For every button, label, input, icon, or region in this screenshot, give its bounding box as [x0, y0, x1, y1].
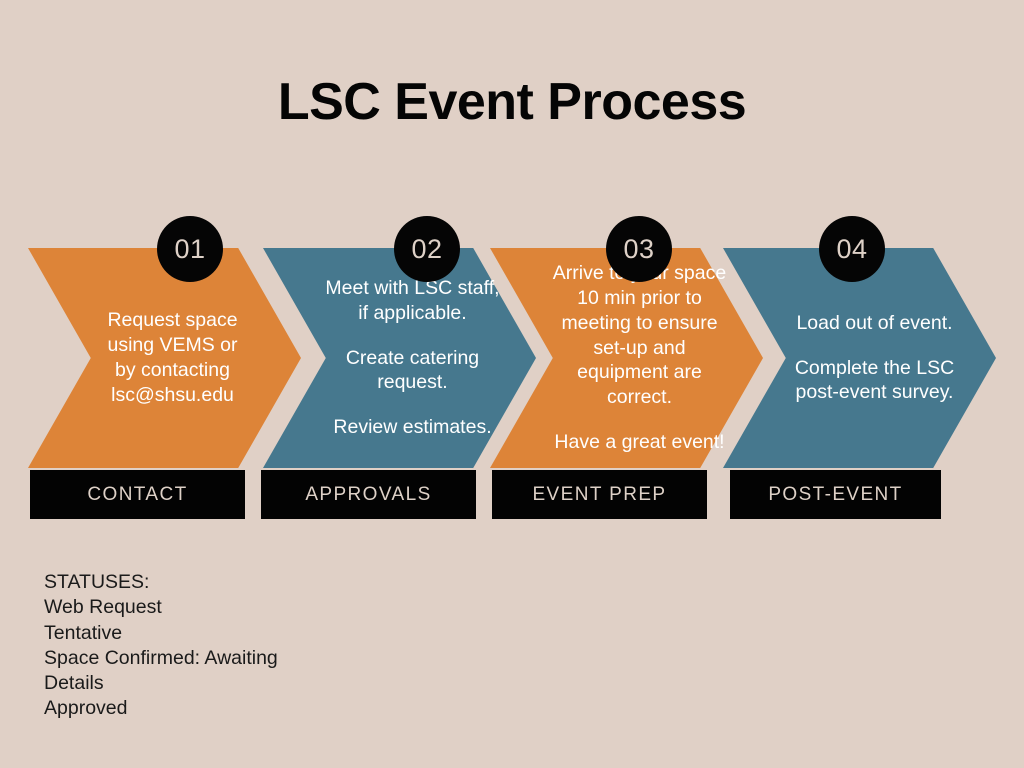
status-item-web-request: Web Request — [44, 595, 278, 620]
step-4-number-badge: 04 — [819, 216, 885, 282]
step-3-number-badge: 03 — [606, 216, 672, 282]
step-3-label[interactable]: EVENT PREP — [492, 470, 707, 519]
status-item-tentative: Tentative — [44, 621, 278, 646]
step-1-number-badge: 01 — [157, 216, 223, 282]
step-2-label[interactable]: APPROVALS — [261, 470, 476, 519]
statuses-block: STATUSES: Web Request Tentative Space Co… — [44, 570, 278, 722]
statuses-heading: STATUSES: — [44, 570, 278, 595]
step-2-chevron — [263, 248, 536, 468]
step-2-number-badge: 02 — [394, 216, 460, 282]
status-item-approved: Approved — [44, 696, 278, 721]
step-1-chevron — [28, 248, 301, 468]
step-1-label[interactable]: CONTACT — [30, 470, 245, 519]
step-4-label[interactable]: POST-EVENT — [730, 470, 941, 519]
status-item-space-confirmed: Space Confirmed: Awaiting Details — [44, 646, 278, 697]
